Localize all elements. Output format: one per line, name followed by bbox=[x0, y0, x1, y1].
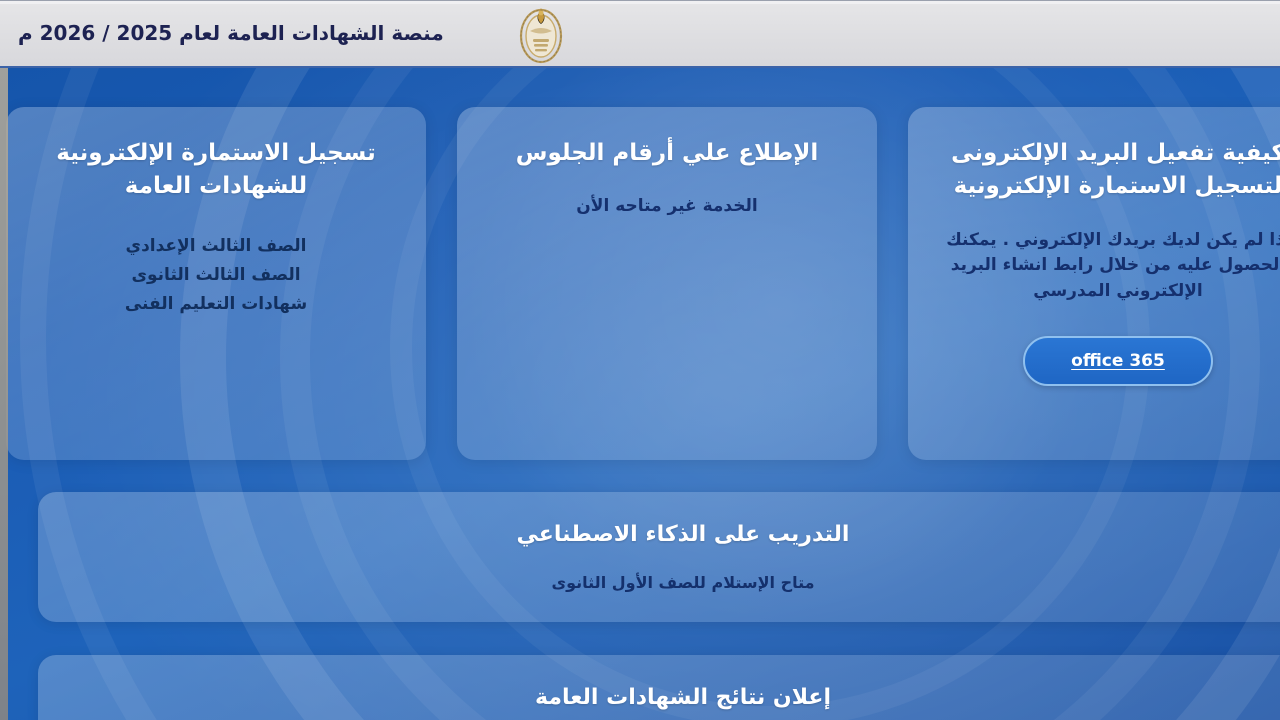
office-365-button[interactable]: office 365 bbox=[1023, 336, 1213, 386]
service-card-row: كيفية تفعيل البريد الإلكترونى لتسجيل الا… bbox=[38, 107, 1280, 460]
list-item[interactable]: شهادات التعليم الفنى bbox=[32, 290, 400, 319]
card-electronic-form-registration[interactable]: تسجيل الاستمارة الإلكترونية للشهادات الع… bbox=[6, 107, 426, 460]
list-item[interactable]: الصف الثالث الثانوى bbox=[32, 261, 400, 290]
banner-title: التدريب على الذكاء الاصطناعي bbox=[38, 522, 1280, 547]
card-title: كيفية تفعيل البريد الإلكترونى لتسجيل الا… bbox=[934, 137, 1280, 204]
card-body-text: الخدمة غير متاحه الأن bbox=[483, 194, 851, 220]
egypt-eagle-emblem-icon bbox=[516, 3, 566, 63]
app-screen: منصة الشهادات العامة لعام 2025 / 2026 م … bbox=[0, 0, 1280, 720]
banner-subtitle: متاح الإستلام للصف الأول الثانوى bbox=[38, 573, 1280, 592]
main-content: كيفية تفعيل البريد الإلكترونى لتسجيل الا… bbox=[0, 68, 1280, 720]
page-header: منصة الشهادات العامة لعام 2025 / 2026 م bbox=[0, 0, 1280, 68]
window-edge-strip bbox=[0, 68, 8, 720]
card-title: تسجيل الاستمارة الإلكترونية للشهادات الع… bbox=[32, 137, 400, 204]
card-body-text: إذا لم يكن لديك بريدك الإلكتروني . يمكنك… bbox=[934, 228, 1280, 305]
page-title: منصة الشهادات العامة لعام 2025 / 2026 م bbox=[18, 21, 444, 45]
banner-title: إعلان نتائج الشهادات العامة bbox=[38, 685, 1280, 710]
banner-results-announcement[interactable]: إعلان نتائج الشهادات العامة bbox=[38, 655, 1280, 720]
banner-ai-training[interactable]: التدريب على الذكاء الاصطناعي متاح الإستل… bbox=[38, 492, 1280, 622]
card-seating-numbers[interactable]: الإطلاع علي أرقام الجلوس الخدمة غير متاح… bbox=[457, 107, 877, 460]
card-title: الإطلاع علي أرقام الجلوس bbox=[483, 137, 851, 170]
certificate-type-list: الصف الثالث الإعدادي الصف الثالث الثانوى… bbox=[32, 232, 400, 320]
list-item[interactable]: الصف الثالث الإعدادي bbox=[32, 232, 400, 261]
card-email-activation[interactable]: كيفية تفعيل البريد الإلكترونى لتسجيل الا… bbox=[908, 107, 1280, 460]
